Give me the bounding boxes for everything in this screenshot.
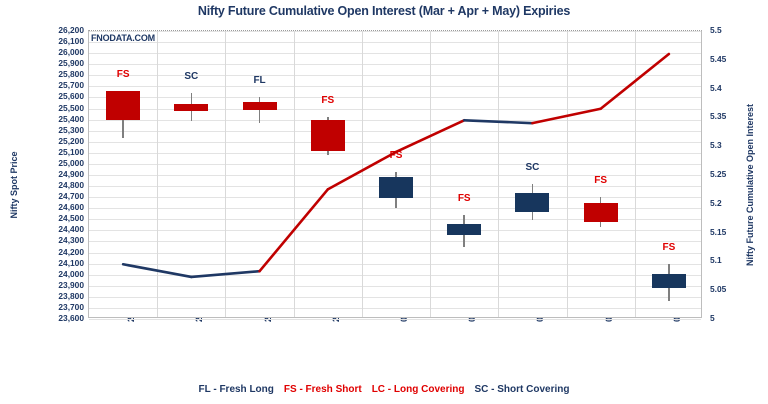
open-interest-line-segment: [260, 189, 328, 271]
y-axis-left-tick-label: 24,200: [26, 247, 84, 257]
y-axis-left-tick-label: 24,600: [26, 202, 84, 212]
page-title: Nifty Future Cumulative Open Interest (M…: [0, 4, 768, 18]
legend-item: FL - Fresh Long: [199, 384, 274, 395]
y-axis-right-tick-label: 5.45: [710, 54, 750, 64]
y-axis-right-tick-label: 5.5: [710, 25, 750, 35]
plot-area: FNODATA.COM FSSCFLFSFSFSSCFSFS: [88, 30, 702, 318]
y-axis-left-tick-label: 23,600: [26, 313, 84, 323]
y-axis-left-tick-label: 24,500: [26, 213, 84, 223]
y-axis-left-tick-label: 24,800: [26, 180, 84, 190]
legend-item: FS - Fresh Short: [284, 384, 362, 395]
y-axis-right-tick-label: 5.3: [710, 140, 750, 150]
chart-root: Nifty Future Cumulative Open Interest (M…: [0, 0, 768, 404]
y-axis-left-tick-label: 24,700: [26, 191, 84, 201]
y-axis-left-tick-label: 24,900: [26, 169, 84, 179]
y-axis-right-tick-label: 5: [710, 313, 750, 323]
y-axis-right-tick-label: 5.4: [710, 83, 750, 93]
y-axis-left-tick-label: 25,300: [26, 125, 84, 135]
y-axis-left-tick-label: 24,100: [26, 258, 84, 268]
open-interest-line-segment: [191, 271, 259, 277]
y-axis-left-tick-label: 25,100: [26, 147, 84, 157]
y-axis-right-tick-label: 5.05: [710, 284, 750, 294]
y-axis-left-tick-label: 26,200: [26, 25, 84, 35]
open-interest-line-segment: [464, 120, 532, 123]
y-axis-right-tick-label: 5.2: [710, 198, 750, 208]
y-axis-left-tick-label: 25,500: [26, 103, 84, 113]
gridline-horizontal: [89, 319, 701, 320]
y-axis-left-tick-label: 26,000: [26, 47, 84, 57]
y-axis-left-tick-label: 25,000: [26, 158, 84, 168]
legend-item: SC - Short Covering: [474, 384, 569, 395]
y-axis-left-tick-label: 24,400: [26, 224, 84, 234]
y-axis-left-tick-label: 23,900: [26, 280, 84, 290]
y-axis-left-tick-label: 25,700: [26, 80, 84, 90]
y-axis-left-tick-label: 25,600: [26, 91, 84, 101]
y-axis-left-tick-label: 26,100: [26, 36, 84, 46]
open-interest-line-segment: [532, 109, 600, 123]
open-interest-line-segment: [328, 152, 396, 189]
y-axis-right-tick-label: 5.1: [710, 255, 750, 265]
legend-item: LC - Long Covering: [372, 384, 465, 395]
y-axis-left-title: Nifty Spot Price: [9, 130, 19, 240]
y-axis-right-tick-label: 5.35: [710, 111, 750, 121]
open-interest-line-segment: [123, 264, 191, 277]
y-axis-left-tick-label: 25,900: [26, 58, 84, 68]
open-interest-line-segment: [601, 54, 669, 109]
y-axis-left-tick-label: 23,700: [26, 302, 84, 312]
y-axis-left-tick-label: 25,800: [26, 69, 84, 79]
open-interest-line: [89, 31, 703, 319]
y-axis-left-tick-label: 24,300: [26, 235, 84, 245]
y-axis-left-tick-label: 25,200: [26, 136, 84, 146]
y-axis-left-tick-label: 23,800: [26, 291, 84, 301]
y-axis-left-tick-label: 25,400: [26, 114, 84, 124]
legend: FL - Fresh LongFS - Fresh ShortLC - Long…: [0, 384, 768, 395]
open-interest-line-segment: [396, 120, 464, 152]
y-axis-left-tick-label: 24,000: [26, 269, 84, 279]
y-axis-right-tick-label: 5.25: [710, 169, 750, 179]
y-axis-right-tick-label: 5.15: [710, 227, 750, 237]
